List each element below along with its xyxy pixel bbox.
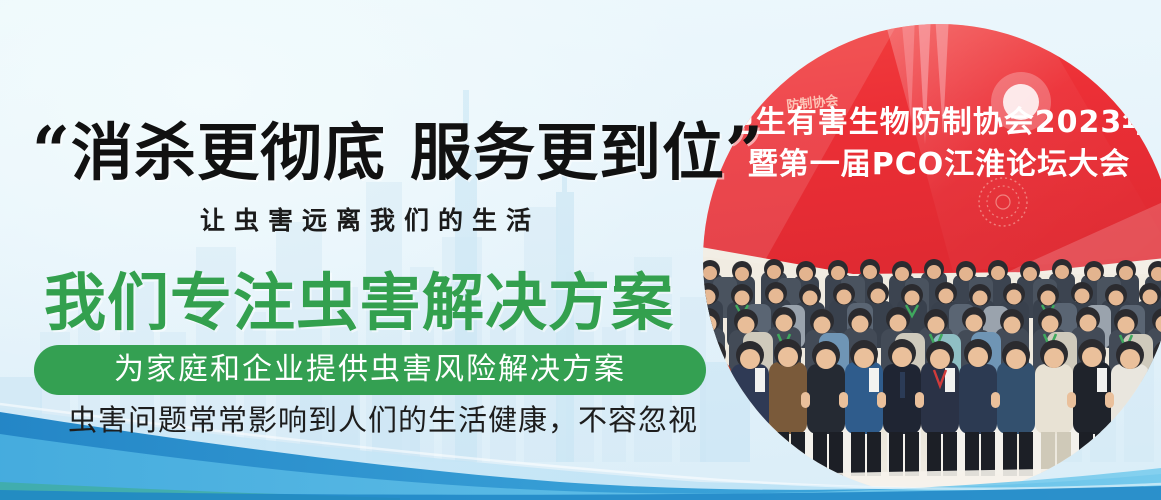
main-headline-part2: 服务更到位 <box>410 116 725 189</box>
service-pill-text: 为家庭和企业提供虫害风险解决方案 <box>114 355 626 385</box>
tagline-text: 虫害问题常常影响到人们的生活健康，不容忽视 <box>68 406 698 435</box>
photo-banner-line2: 暨第一届PCO江淮论坛大会 <box>748 147 1131 182</box>
photo-banner-line1: 市卫生有害生物防制协会2023年会 <box>703 105 1161 140</box>
close-quote-mark: ” <box>725 112 764 190</box>
main-headline: “消杀更彻底服务更到位” <box>32 118 764 184</box>
pest-control-hero-banner: 防制协会 市卫生有害生物防制协会2023年会 暨第一届PCO江淮论坛大会 <box>0 0 1161 500</box>
open-quote-mark: “ <box>32 112 71 190</box>
headline-copy-block: “消杀更彻底服务更到位” 让虫害远离我们的生活 我们专注虫害解决方案 为家庭和企… <box>0 0 730 500</box>
sub-headline: 让虫害远离我们的生活 <box>200 208 540 233</box>
service-pill-banner: 为家庭和企业提供虫害风险解决方案 <box>34 345 706 395</box>
main-headline-part1: 消杀更彻底 <box>71 116 386 189</box>
green-headline: 我们专注虫害解决方案 <box>44 272 674 334</box>
